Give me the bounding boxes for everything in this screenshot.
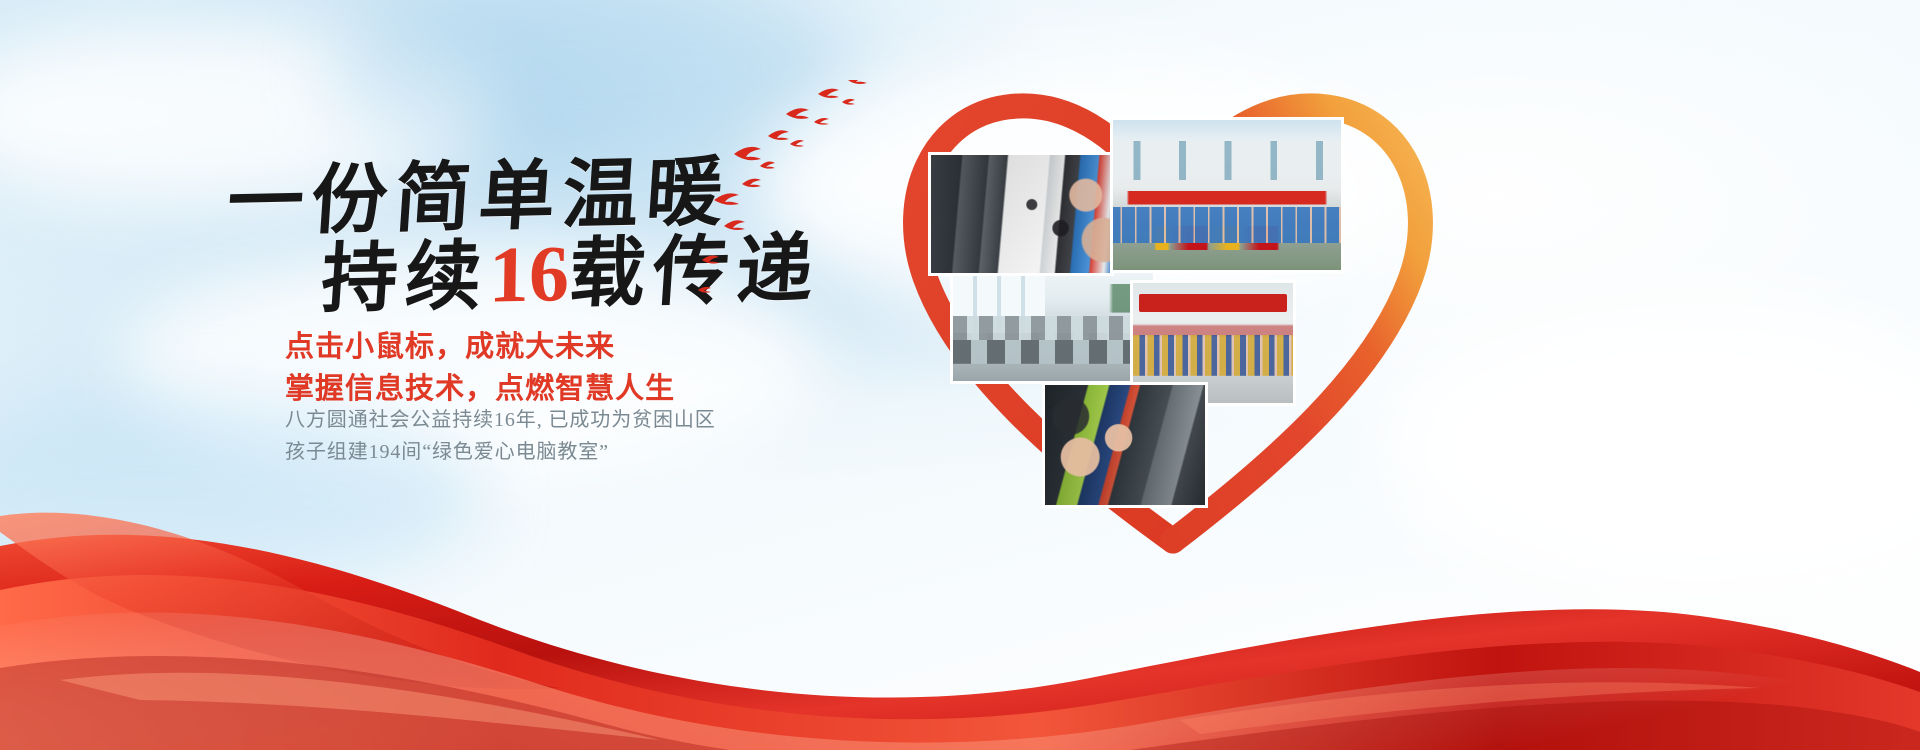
slogan-block: 点击小鼠标，成就大未来 掌握信息技术，点燃智慧人生 xyxy=(285,326,675,410)
red-silk-ribbon-wave xyxy=(0,420,1920,750)
photo-classroom-wide xyxy=(953,271,1153,381)
photo-school-ceremony xyxy=(1113,120,1341,270)
headline-line-1: 一份简单温暖 xyxy=(225,155,732,241)
promo-banner: 一份简单温暖 持续16载传递 点击小鼠标，成就大未来 掌握信息技术，点燃智慧人生… xyxy=(0,0,1920,750)
headline-line-2-prefix: 持续 xyxy=(319,235,492,322)
slogan-line-1: 点击小鼠标，成就大未来 xyxy=(285,326,675,368)
headline-years-number: 16 xyxy=(489,234,570,316)
photo-lab-closeup xyxy=(931,155,1111,273)
photo-boys-computers xyxy=(1045,385,1205,505)
